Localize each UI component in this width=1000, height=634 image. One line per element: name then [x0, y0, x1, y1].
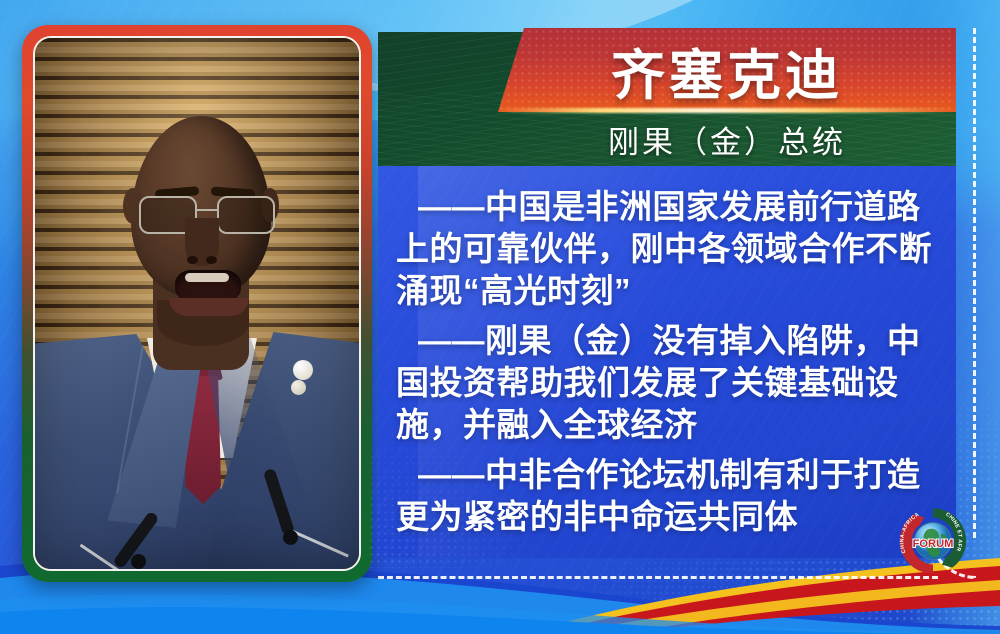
- quote-item: ——中国是非洲国家发展前行道路上的可靠伙伴，刚中各领域合作不断涌现“高光时刻”: [396, 186, 948, 312]
- focac-center-text: FORUM: [913, 538, 954, 550]
- focac-logo-icon: CHINA-AFRICA CHINE ET AFRIQUE FORUM: [896, 504, 970, 578]
- speaker-photo: [33, 36, 361, 571]
- quote-card-canvas: 齐塞克迪 刚果（金）总统 ——中国是非洲国家发展前行道路上的可靠伙伴，刚中各领域…: [0, 0, 1000, 634]
- speaker-photo-frame: [22, 25, 372, 582]
- quote-item: ——刚果（金）没有掉入陷阱，中国投资帮助我们发展了关键基础设施，并融入全球经济: [396, 320, 948, 446]
- dashed-guide-horizontal: [378, 576, 938, 579]
- photo-vignette: [35, 38, 359, 569]
- speaker-role: 刚果（金）总统: [498, 112, 956, 166]
- focac-logo-svg: CHINA-AFRICA CHINE ET AFRIQUE FORUM: [896, 504, 970, 578]
- quote-item: ——中非合作论坛机制有利于打造更为紧密的非中命运共同体: [396, 454, 948, 538]
- quote-list: ——中国是非洲国家发展前行道路上的可靠伙伴，刚中各领域合作不断涌现“高光时刻” …: [396, 186, 948, 538]
- dashed-guide-vertical: [973, 28, 976, 538]
- speaker-name: 齐塞克迪: [498, 28, 956, 112]
